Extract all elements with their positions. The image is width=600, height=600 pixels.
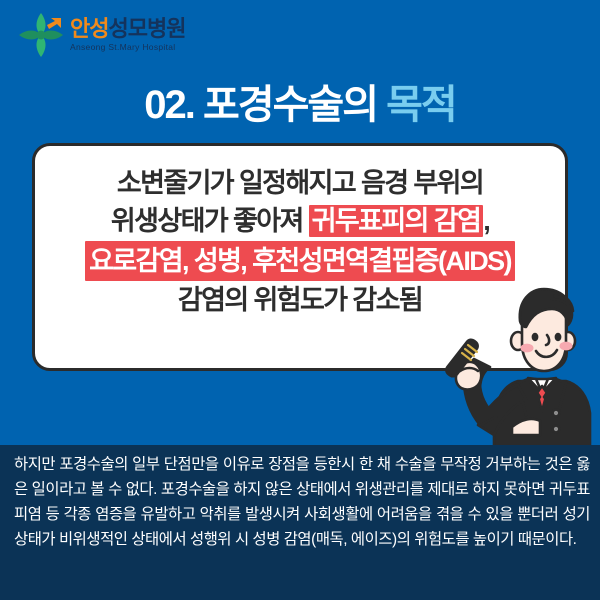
hospital-name-rest: 성모병원	[108, 16, 185, 41]
hospital-logo: 안성성모병원 Anseong St.Mary Hospital	[16, 8, 185, 62]
card-line-1: 소변줄기가 일정해지고 음경 부위의	[51, 164, 549, 202]
card-line-2-trailing: ,	[483, 206, 489, 236]
card-line-2-highlight: 귀두표피의 감염	[309, 205, 484, 237]
title-number: 02.	[144, 83, 194, 127]
hospital-name-english: Anseong St.Mary Hospital	[70, 43, 185, 52]
card-line-2-plain: 위생상태가 좋아져	[111, 206, 309, 236]
footer-description: 하지만 포경수술의 일부 단점만을 이유로 장점을 등한시 한 채 수술을 무작…	[14, 453, 590, 553]
card-line-3-highlight: 요로감염, 성병, 후천성면역결핍증(AIDS)	[85, 241, 515, 281]
poster-canvas: 안성성모병원 Anseong St.Mary Hospital 02. 포경수술…	[0, 0, 600, 600]
title-main: 포경수술의	[203, 83, 377, 127]
green-cross-flower-logo-icon	[16, 10, 66, 60]
footer-paragraph: 하지만 포경수술의 일부 단점만을 이유로 장점을 등한시 한 채 수술을 무작…	[14, 453, 590, 553]
card-line-2: 위생상태가 좋아져 귀두표피의 감염,	[51, 202, 549, 240]
hospital-name: 안성성모병원	[70, 18, 185, 40]
title-accent: 목적	[386, 83, 456, 127]
doctor-with-pointer-icon	[440, 285, 600, 445]
page-title: 02. 포경수술의 목적	[0, 72, 600, 130]
hospital-name-highlight: 안성	[70, 16, 108, 41]
card-line-3: 요로감염, 성병, 후천성면역결핍증(AIDS)	[51, 241, 549, 281]
